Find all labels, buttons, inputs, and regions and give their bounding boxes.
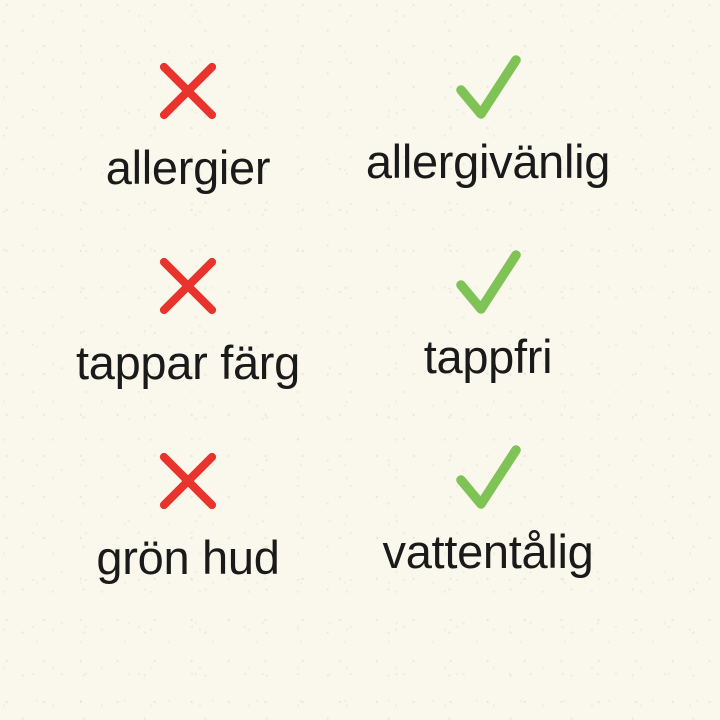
feature-row: grön hud vattentålig: [0, 452, 720, 647]
comparison-board: allergier allergivänlig: [0, 0, 720, 720]
check-icon: [450, 52, 526, 128]
feature-row: tappar färg tappfri: [0, 257, 720, 452]
cross-icon: [159, 257, 217, 315]
feature-row: allergier allergivänlig: [0, 62, 720, 257]
feature-label-positive: allergivänlig: [366, 138, 610, 185]
feature-cell-negative: allergier: [0, 62, 360, 257]
feature-rows-container: allergier allergivänlig: [0, 0, 720, 720]
feature-label-negative: grön hud: [96, 534, 279, 581]
cross-icon: [159, 452, 217, 510]
feature-label-negative: allergier: [106, 144, 271, 191]
feature-cell-negative: tappar färg: [0, 257, 360, 452]
feature-label-positive: tappfri: [424, 333, 553, 380]
feature-cell-positive: allergivänlig: [360, 62, 720, 257]
feature-label-negative: tappar färg: [76, 339, 300, 386]
feature-cell-positive: vattentålig: [360, 452, 720, 647]
check-icon: [450, 442, 526, 518]
feature-cell-positive: tappfri: [360, 257, 720, 452]
cross-icon: [159, 62, 217, 120]
feature-cell-negative: grön hud: [0, 452, 360, 647]
check-icon: [450, 247, 526, 323]
feature-label-positive: vattentålig: [383, 528, 594, 575]
